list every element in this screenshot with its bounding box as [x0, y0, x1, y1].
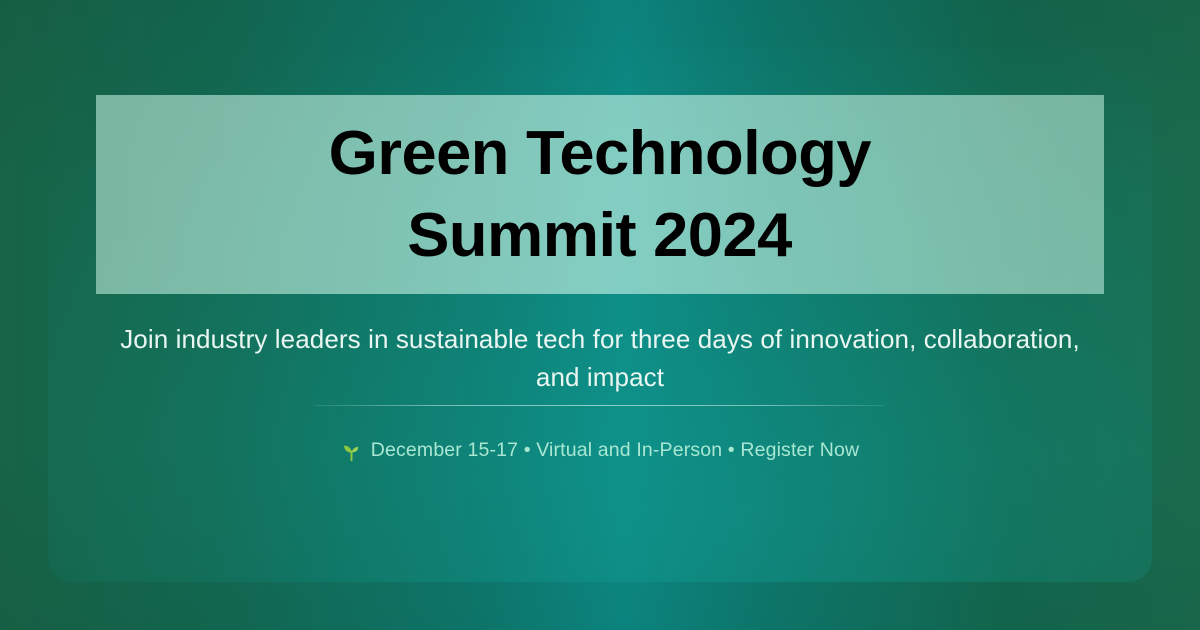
- meta-row: December 15-17 • Virtual and In-Person •…: [96, 436, 1104, 464]
- title-line-1: Green Technology: [329, 113, 871, 195]
- title-banner: Green Technology Summit 2024: [96, 95, 1104, 294]
- seedling-icon: [341, 441, 362, 462]
- meta-text: December 15-17 • Virtual and In-Person •…: [371, 436, 859, 464]
- promotional-banner: Green Technology Summit 2024 Join indust…: [0, 0, 1200, 630]
- divider-line: [315, 405, 885, 406]
- subtitle-text: Join industry leaders in sustainable tec…: [96, 320, 1104, 396]
- content-card: Green Technology Summit 2024 Join indust…: [48, 48, 1152, 582]
- title-line-2: Summit 2024: [408, 195, 793, 277]
